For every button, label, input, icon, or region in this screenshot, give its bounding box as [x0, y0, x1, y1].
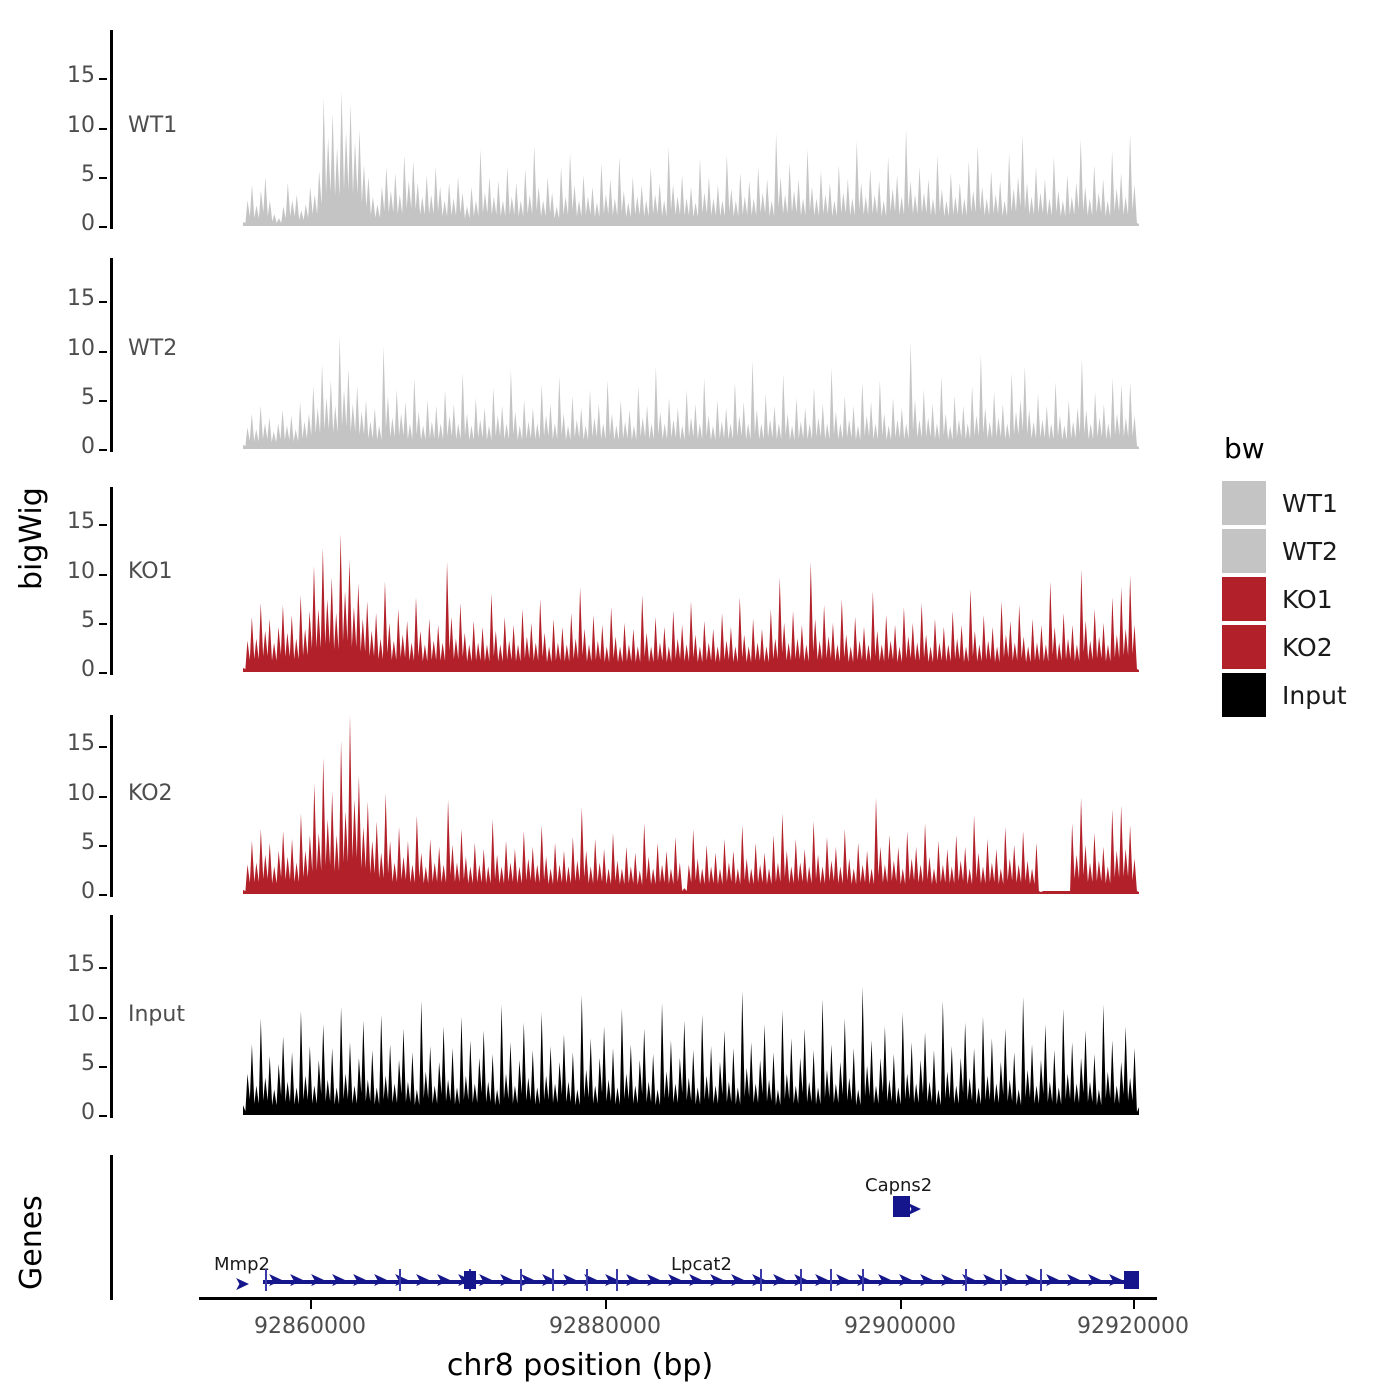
- y-tick-label-15: 15: [55, 509, 95, 534]
- x-tick-92860000: [310, 1300, 312, 1309]
- gene-strand-arrow: ➤: [771, 1271, 787, 1290]
- signal-polygon-input: [243, 915, 1139, 1116]
- y-tick-label-0: 0: [55, 879, 95, 904]
- y-tick-0: [99, 672, 107, 674]
- gene-exon-tick: [1000, 1269, 1002, 1291]
- y-axis-line-wt1: [110, 30, 113, 229]
- y-tick-5: [99, 845, 107, 847]
- x-tick-92900000: [900, 1300, 902, 1309]
- x-tick-label-92860000: 92860000: [254, 1314, 366, 1339]
- y-tick-label-15: 15: [55, 286, 95, 311]
- x-tick-label-92900000: 92900000: [844, 1314, 956, 1339]
- gene-strand-arrow: ➤: [435, 1271, 451, 1290]
- gene-strand-arrow: ➤: [561, 1271, 577, 1290]
- legend-label-wt1: WT1: [1282, 489, 1338, 518]
- y-tick-label-15: 15: [55, 952, 95, 977]
- genes-axis-line: [110, 1155, 113, 1300]
- y-tick-5: [99, 623, 107, 625]
- gene-exon-tick: [265, 1269, 267, 1291]
- y-tick-label-10: 10: [55, 559, 95, 584]
- y-tick-label-0: 0: [55, 657, 95, 682]
- legend-item-wt1[interactable]: WT1: [1222, 479, 1347, 527]
- legend-item-ko2[interactable]: KO2: [1222, 623, 1347, 671]
- legend-swatch-wt1: [1222, 481, 1266, 525]
- bigwig-panel-input: 051015Input: [0, 915, 1160, 1118]
- gene-strand-arrow: ➤: [624, 1271, 640, 1290]
- gene-label-mmp2: Mmp2: [214, 1254, 270, 1275]
- y-tick-15: [99, 301, 107, 303]
- legend: bw WT1WT2KO1KO2Input: [1222, 432, 1347, 719]
- y-tick-label-15: 15: [55, 731, 95, 756]
- gene-strand-arrow: ➤: [939, 1271, 955, 1290]
- y-tick-0: [99, 1115, 107, 1117]
- gene-strand-arrow: ➤: [813, 1271, 829, 1290]
- y-tick-0: [99, 226, 107, 228]
- x-tick-92880000: [605, 1300, 607, 1309]
- bigwig-panel-ko2: 051015KO2: [0, 715, 1160, 897]
- y-tick-label-10: 10: [55, 781, 95, 806]
- y-tick-15: [99, 78, 107, 80]
- gene-exon-tick: [830, 1269, 832, 1291]
- bigwig-panel-ko1: 051015KO1: [0, 487, 1160, 675]
- track-label-wt1: WT1: [128, 113, 177, 138]
- gene-strand-arrow: ➤: [1023, 1271, 1039, 1290]
- y-tick-5: [99, 400, 107, 402]
- gene-exon-tick: [800, 1269, 802, 1291]
- gene-strand-arrow: ➤: [330, 1271, 346, 1290]
- gene-exon-tick: [586, 1269, 588, 1291]
- signal-area-wt1: [243, 30, 1139, 227]
- gene-strand-arrow: ➤: [687, 1271, 703, 1290]
- gene-strand-arrow: ➤: [414, 1271, 430, 1290]
- gene-exon-tick: [760, 1269, 762, 1291]
- y-tick-label-5: 5: [55, 608, 95, 633]
- gene-strand-arrow: ➤: [876, 1271, 892, 1290]
- y-tick-label-5: 5: [55, 1051, 95, 1076]
- y-tick-0: [99, 894, 107, 896]
- gene-strand-arrow: ➤: [498, 1271, 514, 1290]
- gene-strand-arrow: ➤: [708, 1271, 724, 1290]
- legend-swatch-wt2: [1222, 529, 1266, 573]
- x-tick-label-92880000: 92880000: [549, 1314, 661, 1339]
- gene-strand-arrow-mmp2: ➤: [234, 1275, 250, 1294]
- gene-exon-lpcat2: [1124, 1271, 1139, 1289]
- gene-exon-tick: [520, 1269, 522, 1291]
- track-label-wt2: WT2: [128, 336, 177, 361]
- legend-label-ko2: KO2: [1282, 633, 1333, 662]
- gene-strand-arrow: ➤: [372, 1271, 388, 1290]
- y-tick-label-10: 10: [55, 1002, 95, 1027]
- y-tick-5: [99, 1066, 107, 1068]
- y-tick-label-10: 10: [55, 113, 95, 138]
- gene-strand-arrow: ➤: [981, 1271, 997, 1290]
- gene-exon-tick: [965, 1269, 967, 1291]
- gene-strand-arrow: ➤: [897, 1271, 913, 1290]
- track-label-input: Input: [128, 1002, 185, 1027]
- legend-label-wt2: WT2: [1282, 537, 1338, 566]
- legend-swatch-input: [1222, 673, 1266, 717]
- gene-strand-arrow: ➤: [1086, 1271, 1102, 1290]
- gene-strand-arrow: ➤: [750, 1271, 766, 1290]
- y-tick-10: [99, 1017, 107, 1019]
- y-tick-15: [99, 967, 107, 969]
- gene-exon-tick: [399, 1269, 401, 1291]
- gene-strand-arrow: ➤: [477, 1271, 493, 1290]
- x-tick-92920000: [1133, 1300, 1135, 1309]
- gene-exon-lpcat2: [464, 1271, 476, 1289]
- gene-strand-arrow: ➤: [1065, 1271, 1081, 1290]
- legend-title: bw: [1224, 432, 1347, 465]
- gene-strand-arrow: ➤: [1044, 1271, 1060, 1290]
- legend-item-ko1[interactable]: KO1: [1222, 575, 1347, 623]
- gene-strand-arrow: ➤: [582, 1271, 598, 1290]
- signal-area-wt2: [243, 258, 1139, 450]
- y-tick-10: [99, 351, 107, 353]
- bigwig-panel-wt1: 051015WT1: [0, 30, 1160, 229]
- gene-exon-tick: [862, 1269, 864, 1291]
- y-tick-label-5: 5: [55, 830, 95, 855]
- y-tick-label-0: 0: [55, 434, 95, 459]
- signal-area-ko1: [243, 487, 1139, 673]
- gene-strand-arrow-capns2: ➤: [906, 1200, 922, 1219]
- gene-strand-arrow: ➤: [918, 1271, 934, 1290]
- x-tick-label-92920000: 92920000: [1077, 1314, 1189, 1339]
- y-tick-5: [99, 177, 107, 179]
- y-tick-label-10: 10: [55, 336, 95, 361]
- legend-items: WT1WT2KO1KO2Input: [1222, 479, 1347, 719]
- signal-area-input: [243, 915, 1139, 1116]
- gene-strand-arrow: ➤: [267, 1271, 283, 1290]
- gene-strand-arrow: ➤: [834, 1271, 850, 1290]
- gene-strand-arrow: ➤: [960, 1271, 976, 1290]
- gene-strand-arrow: ➤: [1107, 1271, 1123, 1290]
- x-axis-line: [199, 1297, 1157, 1300]
- gene-exon-tick: [1040, 1269, 1042, 1291]
- gene-strand-arrow: ➤: [288, 1271, 304, 1290]
- signal-polygon-ko1: [243, 487, 1139, 673]
- y-tick-15: [99, 746, 107, 748]
- gene-exon-tick: [616, 1269, 618, 1291]
- gene-strand-arrow: ➤: [1002, 1271, 1018, 1290]
- legend-label-ko1: KO1: [1282, 585, 1333, 614]
- y-tick-10: [99, 574, 107, 576]
- track-label-ko2: KO2: [128, 781, 173, 806]
- legend-swatch-ko1: [1222, 577, 1266, 621]
- signal-polygon-wt2: [243, 258, 1139, 450]
- bigwig-panel-wt2: 051015WT2: [0, 258, 1160, 452]
- legend-item-input[interactable]: Input: [1222, 671, 1347, 719]
- signal-polygon-ko2: [243, 715, 1139, 895]
- gene-exon-tick: [552, 1269, 554, 1291]
- gene-strand-arrow: ➤: [666, 1271, 682, 1290]
- legend-item-wt2[interactable]: WT2: [1222, 527, 1347, 575]
- signal-polygon-wt1: [243, 30, 1139, 227]
- y-tick-label-15: 15: [55, 63, 95, 88]
- track-label-ko1: KO1: [128, 559, 173, 584]
- legend-swatch-ko2: [1222, 625, 1266, 669]
- x-axis-title: chr8 position (bp): [0, 1348, 1160, 1383]
- y-axis-line-ko2: [110, 715, 113, 897]
- signal-area-ko2: [243, 715, 1139, 895]
- gene-strand-arrow: ➤: [351, 1271, 367, 1290]
- legend-label-input: Input: [1282, 681, 1347, 710]
- genes-panel: Capns2 ➤ Mmp2 ➤ Lpcat2 ➤➤➤➤➤➤➤➤➤➤➤➤➤➤➤➤➤…: [0, 1155, 1160, 1305]
- y-axis-line-input: [110, 915, 113, 1118]
- y-tick-10: [99, 796, 107, 798]
- gene-strand-arrow: ➤: [729, 1271, 745, 1290]
- y-tick-label-5: 5: [55, 162, 95, 187]
- y-tick-label-0: 0: [55, 211, 95, 236]
- y-tick-label-0: 0: [55, 1100, 95, 1125]
- y-tick-0: [99, 449, 107, 451]
- y-tick-10: [99, 128, 107, 130]
- gene-label-capns2: Capns2: [865, 1175, 932, 1196]
- gene-strand-arrow: ➤: [645, 1271, 661, 1290]
- y-tick-15: [99, 524, 107, 526]
- gene-strand-arrow: ➤: [309, 1271, 325, 1290]
- y-tick-label-5: 5: [55, 385, 95, 410]
- y-axis-line-ko1: [110, 487, 113, 675]
- y-axis-line-wt2: [110, 258, 113, 452]
